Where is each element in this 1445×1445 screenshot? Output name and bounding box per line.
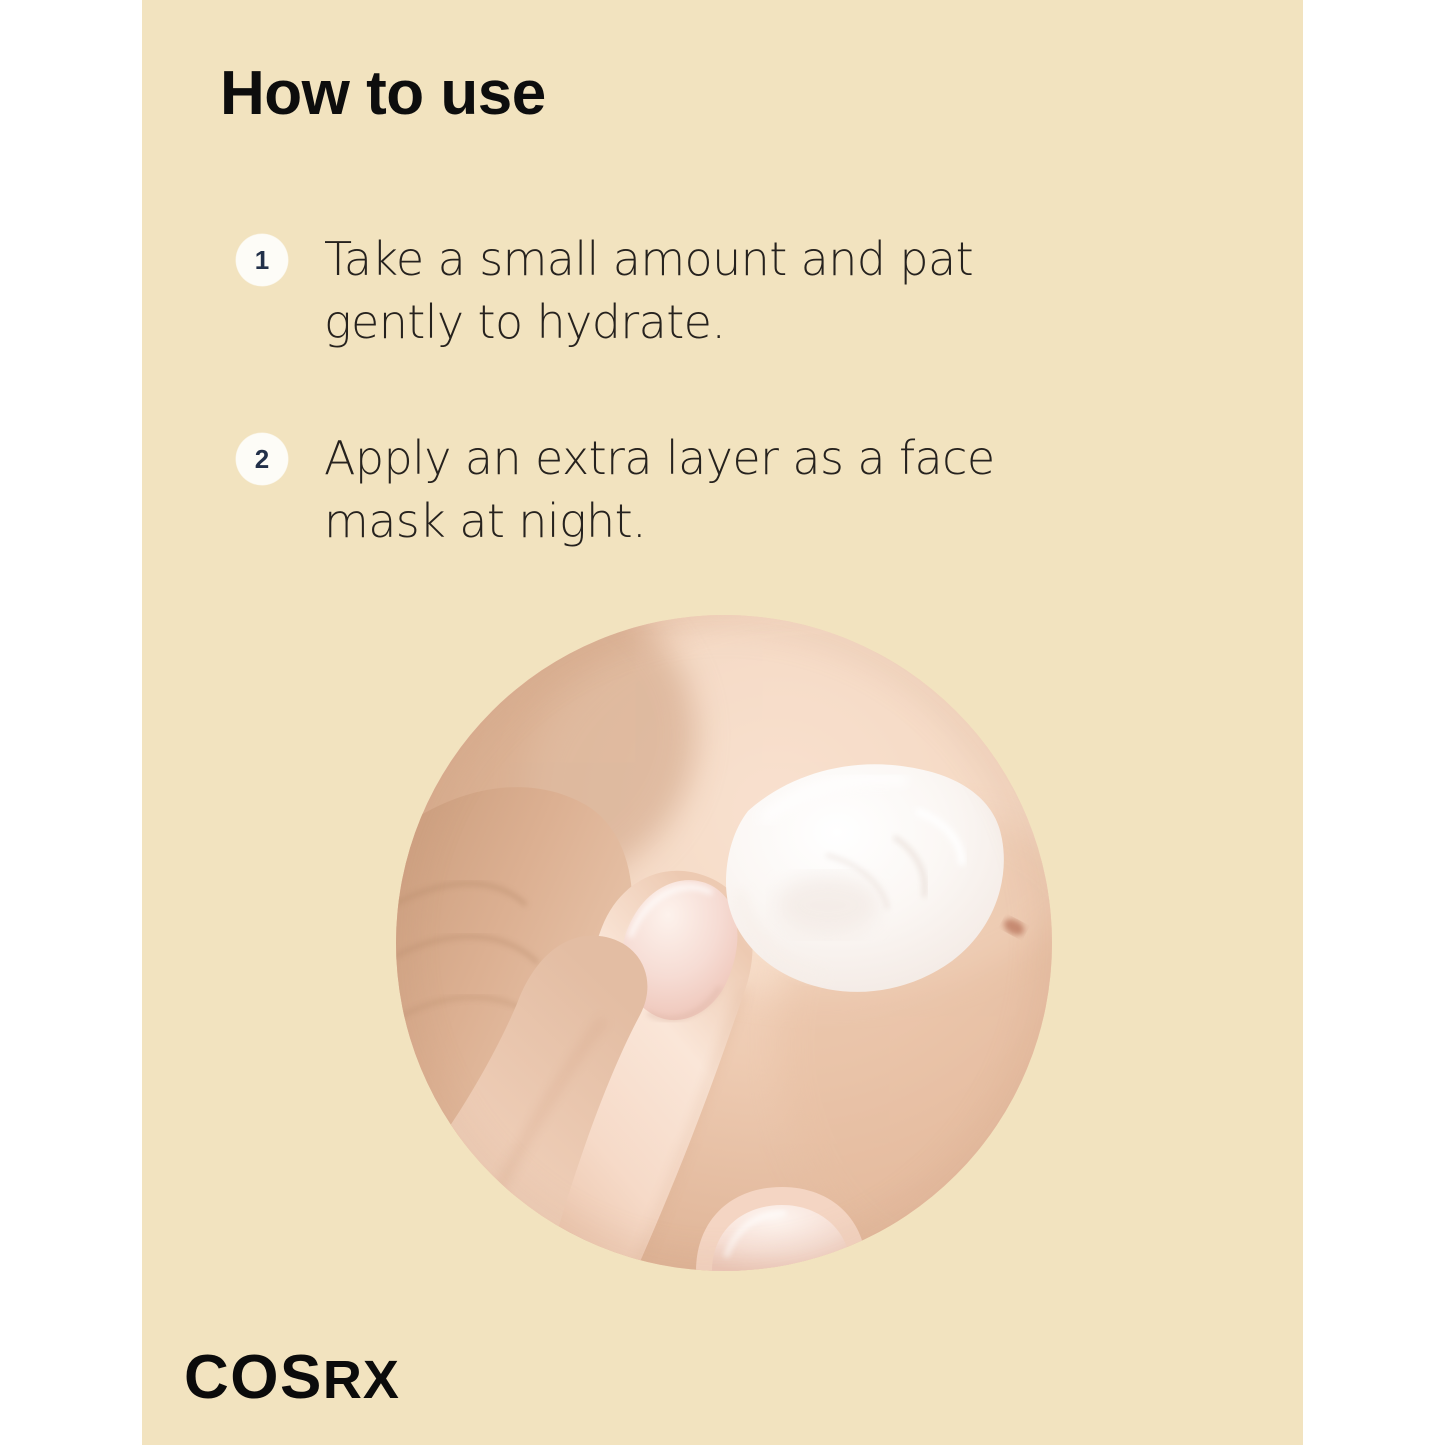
step-number-badge: 1 (236, 234, 288, 286)
instruction-list: 1 Take a small amount and pat gently to … (236, 228, 1056, 552)
list-item: 1 Take a small amount and pat gently to … (236, 228, 1056, 353)
hand-applying-cream-illustration (396, 615, 1052, 1271)
list-item: 2 Apply an extra layer as a face mask at… (236, 427, 1056, 552)
step-description: Take a small amount and pat gently to hy… (324, 228, 1056, 353)
page-title: How to use (220, 58, 546, 129)
product-application-photo (396, 615, 1052, 1271)
logo-text-secondary: RX (323, 1353, 400, 1407)
logo-text-primary: COS (184, 1347, 323, 1409)
poster-canvas: How to use 1 Take a small amount and pat… (0, 0, 1445, 1445)
cosrx-logo: COS RX (184, 1347, 400, 1409)
step-number-badge: 2 (236, 433, 288, 485)
step-description: Apply an extra layer as a face mask at n… (324, 427, 1056, 552)
